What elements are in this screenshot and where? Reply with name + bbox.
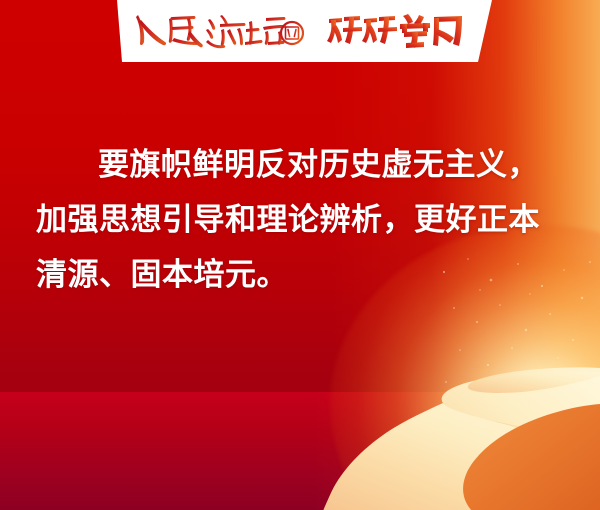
poster-canvas: 要旗帜鲜明反对历史虚无主义，加强思想引导和理论辨析，更好正本清源、固本培元。 [0, 0, 600, 510]
quote-text: 要旗帜鲜明反对历史虚无主义，加强思想引导和理论辨析，更好正本清源、固本培元。 [36, 138, 566, 303]
logo-haohao-xuexi[interactable] [326, 11, 468, 51]
banner-content [0, 0, 600, 62]
logo-renmin-luntan-wang[interactable] [132, 9, 304, 53]
top-banner [0, 0, 600, 64]
